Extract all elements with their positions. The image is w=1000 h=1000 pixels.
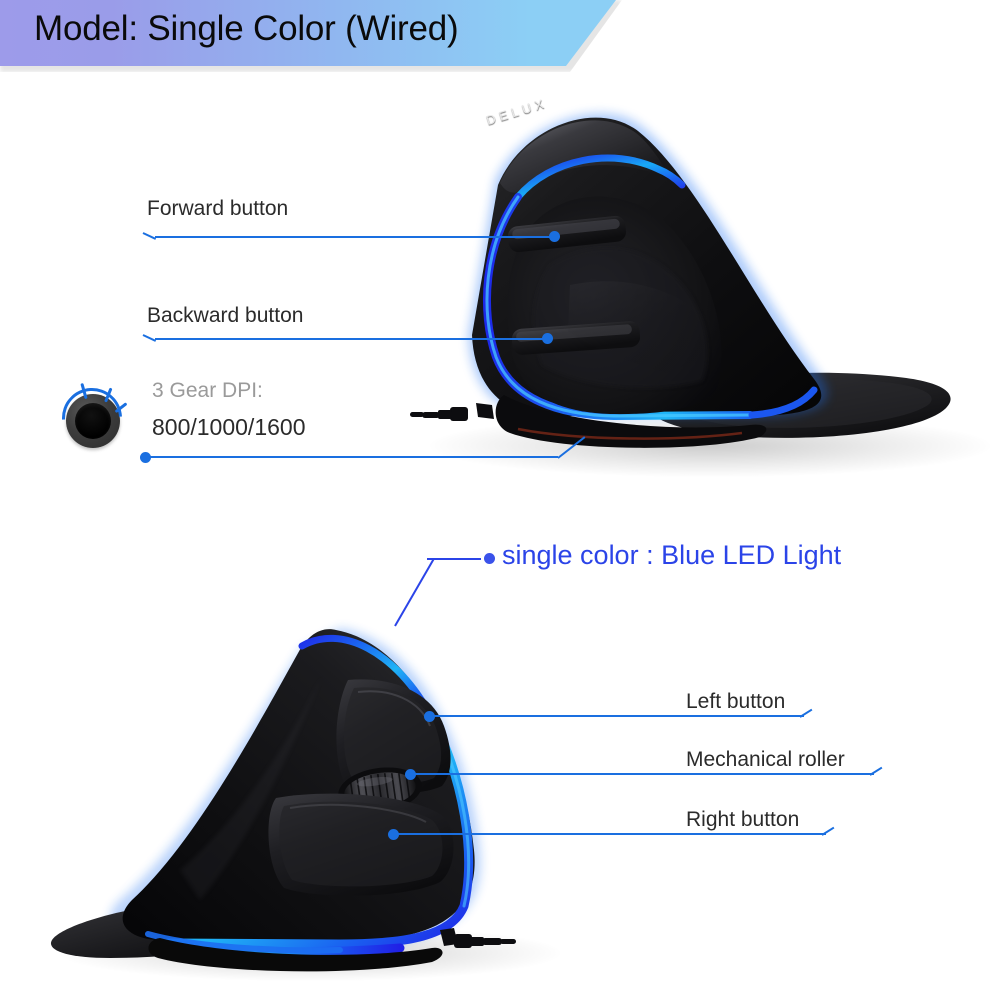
forward-button-label: Forward button bbox=[147, 197, 288, 221]
dpi-title: 3 Gear DPI: bbox=[152, 379, 263, 403]
led-callout-label: single color : Blue LED Light bbox=[502, 540, 841, 571]
bottom-mouse-image bbox=[40, 600, 620, 990]
backward-button-label: Backward button bbox=[147, 304, 303, 328]
top-mouse-image bbox=[400, 85, 1000, 465]
mechanical-roller-leader-tail bbox=[869, 767, 882, 776]
right-button-leader-line bbox=[398, 833, 826, 835]
dpi-dial-icon bbox=[62, 386, 124, 448]
dpi-leader-line bbox=[150, 456, 558, 458]
forward-button-marker-dot bbox=[549, 231, 560, 242]
dpi-dial-arc bbox=[50, 376, 135, 461]
dpi-values: 800/1000/1600 bbox=[152, 414, 306, 441]
left-button-label: Left button bbox=[686, 690, 785, 714]
left-button-leader-line bbox=[434, 715, 804, 717]
led-callout-marker-dot bbox=[484, 553, 495, 564]
infographic-canvas: Model: Single Color (Wired) bbox=[0, 0, 1000, 1000]
forward-button-leader-line bbox=[155, 236, 554, 238]
right-button-label: Right button bbox=[686, 808, 799, 832]
page-title: Model: Single Color (Wired) bbox=[34, 9, 458, 49]
mechanical-roller-leader-line bbox=[415, 773, 874, 775]
led-callout-leader-line bbox=[427, 558, 481, 560]
right-button-leader-tail bbox=[821, 827, 834, 836]
mechanical-roller-label: Mechanical roller bbox=[686, 748, 845, 772]
backward-button-marker-dot bbox=[542, 333, 553, 344]
backward-button-leader-line bbox=[155, 338, 547, 340]
left-button-leader-tail bbox=[799, 709, 812, 718]
